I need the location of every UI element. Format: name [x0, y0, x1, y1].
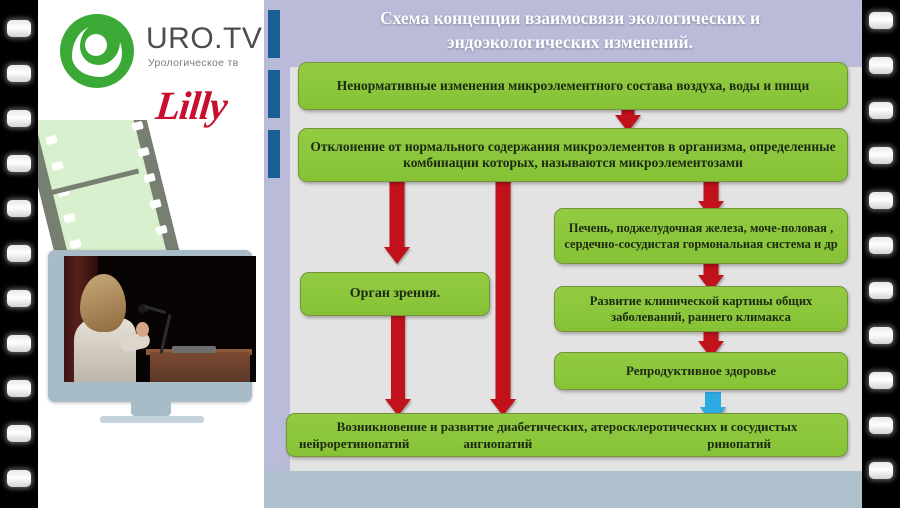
monitor-bezel: [48, 250, 252, 402]
brand-subtitle: Урологическое тв: [148, 57, 238, 69]
screenshot-stage: URO.TV Урологическое тв Lilly: [0, 0, 900, 508]
film-sprocket-hole: [7, 290, 31, 307]
film-sprocket-hole: [869, 147, 893, 164]
film-sprocket-hole: [869, 282, 893, 299]
left-panel-footer: [38, 460, 264, 508]
arrow-vision-to-outcome: [385, 316, 411, 416]
film-sprocket-hole: [7, 20, 31, 37]
slide-title: Схема концепции взаимосвязи экологически…: [320, 6, 820, 54]
box-vision-organ[interactable]: Орган зрения.: [300, 272, 490, 316]
box-organs[interactable]: Печень, поджелудочная железа, моче-полов…: [554, 208, 848, 264]
film-sprocket-hole: [869, 102, 893, 119]
presentation-slide: Схема концепции взаимосвязи экологически…: [264, 0, 862, 492]
slide-title-line-2: эндоэкологических изменений.: [320, 30, 820, 54]
slide-accent-tab-1: [268, 10, 280, 58]
box-microelementoses-label: Отклонение от нормального содержания мик…: [307, 139, 839, 171]
video-screen[interactable]: [64, 256, 256, 382]
film-sprocket-hole: [7, 425, 31, 442]
film-border-right: [862, 0, 900, 508]
box-outcome-line-1: Возникновение и развитие диабетических, …: [295, 419, 839, 435]
slide-title-line-1: Схема концепции взаимосвязи экологически…: [320, 6, 820, 30]
box-reproductive-health[interactable]: Репродуктивное здоровье: [554, 352, 848, 390]
film-sprocket-hole: [7, 200, 31, 217]
film-sprocket-hole: [7, 155, 31, 172]
film-sprocket-hole: [869, 57, 893, 74]
film-sprocket-hole: [869, 192, 893, 209]
box-outcome-term-rhinopathy: ринопатий: [707, 436, 771, 452]
film-border-left: [0, 0, 38, 508]
box-microelementoses[interactable]: Отклонение от нормального содержания мик…: [298, 128, 848, 182]
arrow-center-long-to-outcome: [489, 178, 517, 416]
film-sprocket-hole: [869, 12, 893, 29]
box-reproductive-health-label: Репродуктивное здоровье: [626, 363, 776, 379]
monitor-stand-base: [100, 416, 204, 423]
box-clinical-picture[interactable]: Развитие клинической картины общих забол…: [554, 286, 848, 332]
film-sprocket-hole: [869, 462, 893, 479]
slide-accent-tab-3: [268, 130, 280, 178]
video-player-monitor[interactable]: [38, 250, 264, 460]
film-sprocket-hole: [869, 327, 893, 344]
left-panel: URO.TV Урологическое тв Lilly: [38, 0, 264, 508]
film-sprocket-hole: [7, 65, 31, 82]
film-strip-decoration-icon: [38, 120, 192, 252]
film-sprocket-hole: [7, 335, 31, 352]
box-organs-label: Печень, поджелудочная железа, моче-полов…: [563, 220, 839, 252]
monitor-stand-neck: [131, 402, 171, 416]
uro-circle-logo-icon: [60, 14, 134, 88]
branding-panel: URO.TV Урологическое тв Lilly: [38, 0, 264, 252]
box-outcome-term-neuroretinopathy: нейроретинопатий: [299, 436, 409, 452]
box-clinical-picture-label: Развитие клинической картины общих забол…: [563, 293, 839, 325]
box-outcome[interactable]: Возникновение и развитие диабетических, …: [286, 413, 848, 457]
film-sprocket-hole: [7, 110, 31, 127]
box-vision-organ-label: Орган зрения.: [350, 286, 440, 302]
film-sprocket-hole: [869, 417, 893, 434]
slide-bottom-band: [264, 471, 862, 492]
film-sprocket-hole: [869, 237, 893, 254]
film-sprocket-hole: [7, 470, 31, 487]
box-air-water-food-label: Ненормативные изменения микроэлементного…: [337, 78, 809, 94]
film-sprocket-hole: [7, 245, 31, 262]
arrow-to-vision-organ: [384, 178, 410, 264]
box-outcome-term-angiopathy: ангиопатий: [463, 436, 532, 452]
brand-name: URO.TV: [146, 22, 262, 56]
film-sprocket-hole: [869, 372, 893, 389]
slide-accent-tab-2: [268, 70, 280, 118]
box-air-water-food[interactable]: Ненормативные изменения микроэлементного…: [298, 62, 848, 110]
film-sprocket-hole: [7, 380, 31, 397]
